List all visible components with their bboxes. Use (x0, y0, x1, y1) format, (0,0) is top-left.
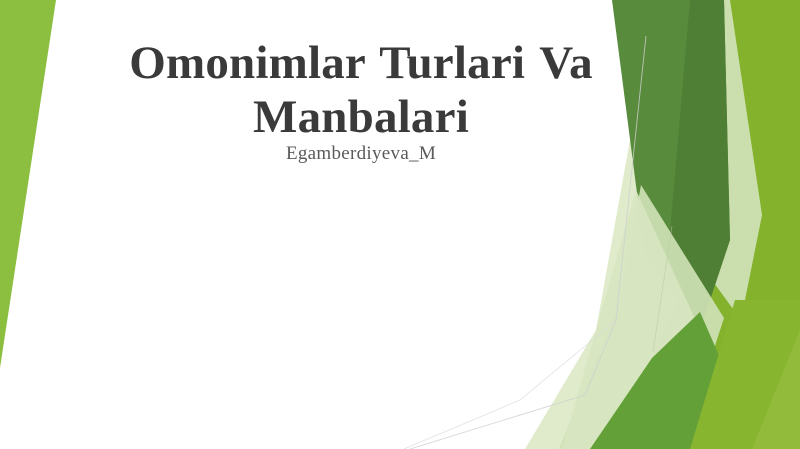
subtitle-placeholder[interactable]: Egamberdiyeva_M (78, 143, 644, 166)
page-title: Omonimlar Turlari Va Manbalari (78, 36, 644, 144)
title-placeholder[interactable]: Omonimlar Turlari Va Manbalari (78, 36, 644, 144)
presentation-slide: Omonimlar Turlari Va Manbalari Egamberdi… (0, 0, 800, 449)
slide-subtitle: Egamberdiyeva_M (78, 143, 644, 166)
